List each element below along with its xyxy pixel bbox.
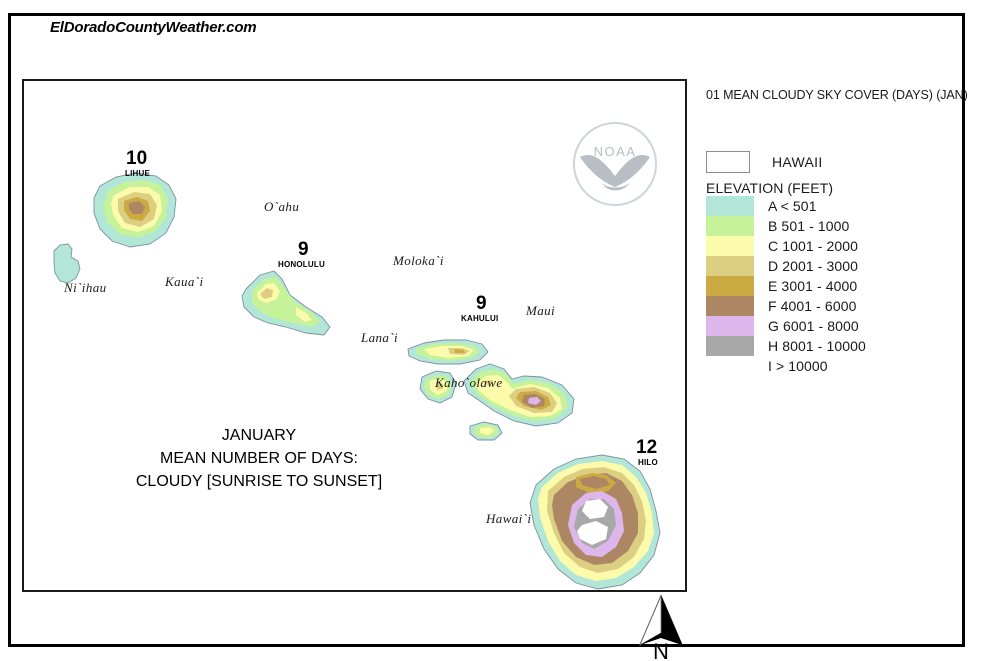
island-maui [464, 364, 574, 426]
legend-label-g: G 6001 - 8000 [768, 318, 859, 334]
legend-region-swatch [706, 151, 750, 173]
legend-row: A < 501 [706, 196, 866, 216]
noaa-logo-text: NOAA [594, 144, 637, 159]
island-label-hawaii: Hawai`i [486, 511, 531, 527]
island-niihau [54, 244, 80, 283]
legend-row: I > 10000 [706, 356, 866, 376]
legend-row: D 2001 - 3000 [706, 256, 866, 276]
island-label-niihau: Ni`ihau [64, 280, 107, 296]
legend-row: H 8001 - 10000 [706, 336, 866, 356]
legend-elevation-list: A < 501 B 501 - 1000 C 1001 - 2000 D 200… [706, 196, 866, 376]
island-label-lanai: Lana`i [361, 330, 398, 346]
legend-swatch-g [706, 316, 754, 336]
legend-swatch-i [706, 356, 754, 376]
map-caption-line-3: CLOUDY [SUNRISE TO SUNSET] [54, 470, 464, 493]
station-name-kahului: KAHULUI [461, 315, 498, 323]
island-kauai [94, 173, 176, 247]
legend-label-d: D 2001 - 3000 [768, 258, 858, 274]
legend-region-row: HAWAII [706, 151, 823, 173]
island-kahoolawe [470, 422, 502, 440]
legend-swatch-e [706, 276, 754, 296]
legend-row: B 501 - 1000 [706, 216, 866, 236]
legend-label-h: H 8001 - 10000 [768, 338, 866, 354]
station-value-honolulu: 9 [298, 240, 309, 259]
island-label-kahoolawe: Kaho`olawe [435, 375, 503, 391]
map-panel: .eA { fill:#b2e6d6; } .eB { fill:#c6f29a… [22, 79, 687, 592]
legend-title: 01 MEAN CLOUDY SKY COVER (DAYS) (JAN) [706, 88, 968, 102]
station-name-honolulu: HONOLULU [278, 261, 325, 269]
island-label-maui: Maui [526, 303, 555, 319]
island-label-molokai: Moloka`i [393, 253, 444, 269]
legend-row: E 3001 - 4000 [706, 276, 866, 296]
station-name-hilo: HILO [638, 459, 658, 467]
site-brand-title: ElDoradoCountyWeather.com [41, 19, 265, 36]
station-value-lihue: 10 [126, 149, 147, 168]
legend-swatch-b [706, 216, 754, 236]
legend-label-b: B 501 - 1000 [768, 218, 849, 234]
station-value-hilo: 12 [636, 438, 657, 457]
north-arrow-label: N [653, 639, 669, 660]
map-caption: JANUARY MEAN NUMBER OF DAYS: CLOUDY [SUN… [54, 424, 464, 493]
legend-panel: 01 MEAN CLOUDY SKY COVER (DAYS) (JAN) HA… [706, 88, 968, 102]
legend-swatch-c [706, 236, 754, 256]
legend-label-e: E 3001 - 4000 [768, 278, 857, 294]
island-label-oahu: O`ahu [264, 199, 299, 215]
legend-label-c: C 1001 - 2000 [768, 238, 858, 254]
island-oahu [242, 271, 330, 335]
legend-region-label: HAWAII [772, 154, 823, 170]
map-caption-line-1: JANUARY [54, 424, 464, 447]
legend-elevation-heading: ELEVATION (FEET) [706, 180, 833, 196]
legend-row: F 4001 - 6000 [706, 296, 866, 316]
legend-swatch-a [706, 196, 754, 216]
island-molokai [408, 340, 488, 364]
legend-label-i: I > 10000 [768, 358, 828, 374]
legend-label-a: A < 501 [768, 198, 817, 214]
noaa-logo-icon: NOAA [572, 121, 658, 207]
legend-label-f: F 4001 - 6000 [768, 298, 856, 314]
legend-row: G 6001 - 8000 [706, 316, 866, 336]
station-name-lihue: LIHUE [125, 170, 150, 178]
station-value-kahului: 9 [476, 294, 487, 313]
legend-swatch-d [706, 256, 754, 276]
legend-swatch-h [706, 336, 754, 356]
legend-row: C 1001 - 2000 [706, 236, 866, 256]
island-hawaii [530, 455, 660, 589]
map-caption-line-2: MEAN NUMBER OF DAYS: [54, 447, 464, 470]
legend-swatch-f [706, 296, 754, 316]
island-label-kauai: Kaua`i [165, 274, 204, 290]
north-arrow-icon: N [634, 592, 690, 660]
